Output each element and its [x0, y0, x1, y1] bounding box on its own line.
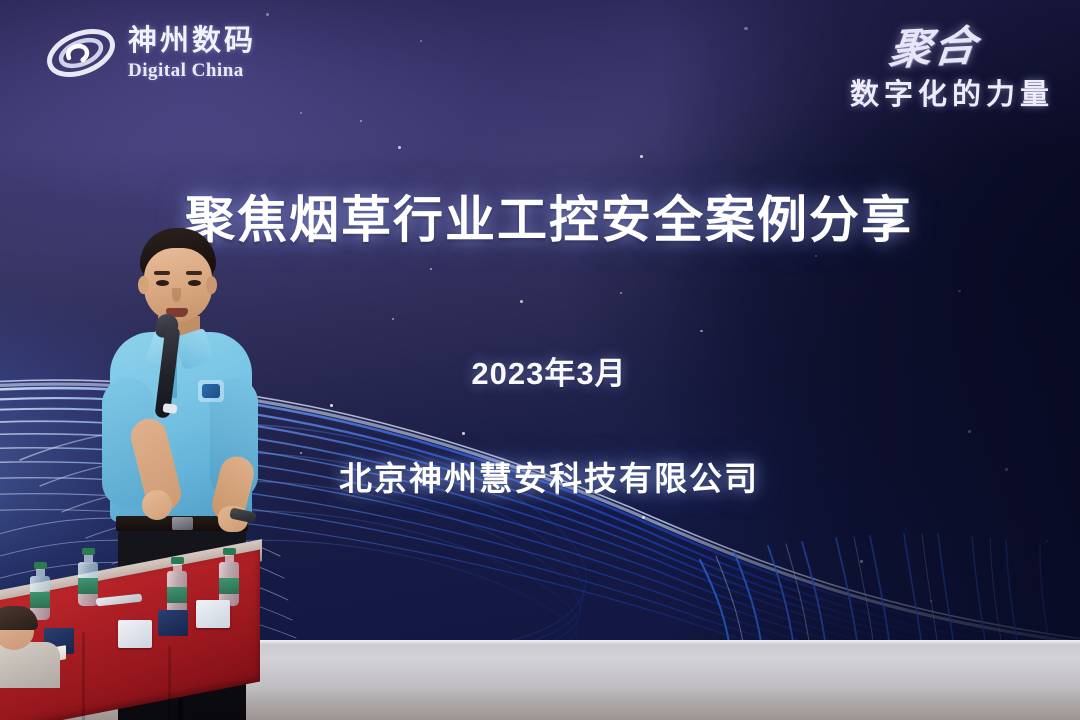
speaker-ear-left	[138, 276, 149, 294]
bottle-neck	[84, 555, 93, 562]
seated-attendee	[0, 612, 72, 682]
bottle-label	[219, 578, 239, 594]
speaker-eye-right	[188, 280, 201, 286]
bottle-cap	[223, 548, 236, 555]
bottle-cap	[82, 548, 95, 555]
speaker-eyebrow-right	[186, 271, 202, 275]
bottle-cap	[171, 557, 184, 564]
brand-name-en: Digital China	[128, 61, 256, 80]
water-bottle	[219, 548, 239, 606]
speaker-eyebrow-left	[154, 271, 170, 275]
name-card	[196, 600, 230, 628]
speaker-ear-right	[206, 276, 217, 294]
bottle-label	[78, 578, 98, 594]
bottle-label	[167, 587, 187, 603]
bottle-neck	[173, 564, 182, 571]
conference-stage-photo: 神州数码 Digital China 聚合 数字化的力量 聚焦烟草行业工控安全案…	[0, 0, 1080, 720]
bottle-label	[30, 592, 50, 608]
name-card	[118, 620, 152, 648]
digital-china-logo: 神州数码 Digital China	[44, 22, 256, 84]
speaker-eye-left	[156, 280, 169, 286]
speaker-belt-buckle	[172, 517, 193, 530]
bottle-cap	[34, 562, 47, 569]
water-bottle	[78, 548, 98, 606]
event-calligraphy: 聚合	[886, 12, 981, 78]
water-bottle	[167, 557, 187, 615]
bottle-body	[167, 571, 187, 615]
brand-name-cn: 神州数码	[128, 27, 256, 56]
bottle-neck	[36, 569, 45, 576]
speaker-chest-logo-inner	[202, 384, 220, 398]
event-logo: 聚合 数字化的力量	[850, 14, 1054, 113]
table-cloth-fold	[168, 646, 171, 720]
digital-china-wordmark: 神州数码 Digital China	[128, 27, 256, 80]
bottle-neck	[225, 555, 234, 562]
table-cloth-fold	[82, 632, 85, 720]
microphone-band	[163, 403, 178, 414]
digital-china-swirl-icon	[44, 22, 118, 84]
name-card	[158, 610, 188, 636]
speaker-nose	[172, 288, 181, 302]
event-tagline: 数字化的力量	[850, 71, 1054, 113]
speaker-left-hand	[142, 490, 172, 520]
